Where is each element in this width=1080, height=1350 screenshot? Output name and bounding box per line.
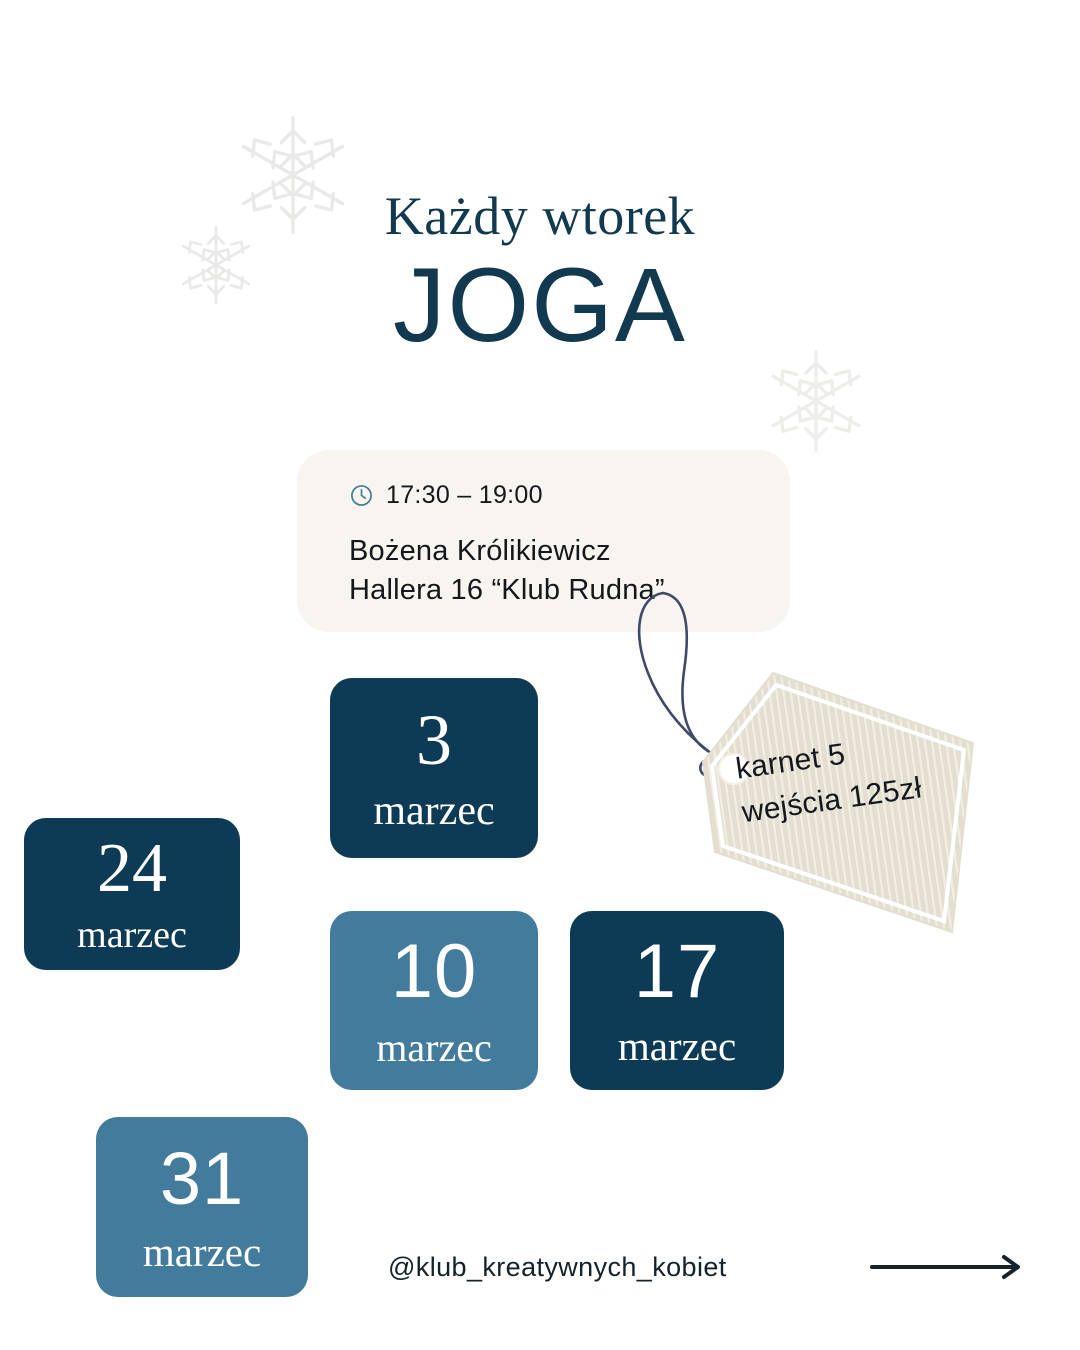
class-info-card: 17:30 – 19:00 Bożena Królikiewicz Haller…	[297, 450, 790, 632]
date-day: 17	[634, 934, 721, 1010]
date-month: marzec	[376, 1028, 491, 1068]
date-day: 10	[391, 934, 478, 1010]
date-month: marzec	[143, 1232, 261, 1273]
date-month: marzec	[77, 916, 187, 954]
page-kicker: Każdy wtorek	[0, 188, 1080, 245]
date-month: marzec	[373, 790, 494, 832]
date-card-3[interactable]: 3 marzec	[330, 678, 538, 858]
date-card-17[interactable]: 17 marzec	[570, 911, 784, 1090]
page-title: JOGA	[0, 251, 1080, 361]
clock-icon	[349, 483, 374, 508]
heading-block: Każdy wtorek JOGA	[0, 188, 1080, 361]
class-location: Hallera 16 “Klub Rudna”	[349, 571, 790, 610]
date-day: 24	[97, 834, 167, 904]
date-day: 3	[416, 704, 452, 776]
date-card-24[interactable]: 24 marzec	[24, 818, 240, 970]
date-day: 31	[160, 1142, 244, 1216]
date-card-31[interactable]: 31 marzec	[96, 1117, 308, 1297]
poster-canvas: Każdy wtorek JOGA 17:30 – 19:00 Bożena K…	[0, 0, 1080, 1350]
class-time: 17:30 – 19:00	[386, 481, 543, 510]
date-month: marzec	[618, 1026, 736, 1067]
snowflake-icon	[760, 345, 872, 457]
time-row: 17:30 – 19:00	[349, 480, 790, 510]
arrow-right-icon[interactable]	[868, 1252, 1026, 1282]
date-card-10[interactable]: 10 marzec	[330, 911, 538, 1090]
instagram-handle[interactable]: @klub_kreatywnych_kobiet	[388, 1252, 727, 1283]
instructor-name: Bożena Królikiewicz	[349, 532, 790, 571]
